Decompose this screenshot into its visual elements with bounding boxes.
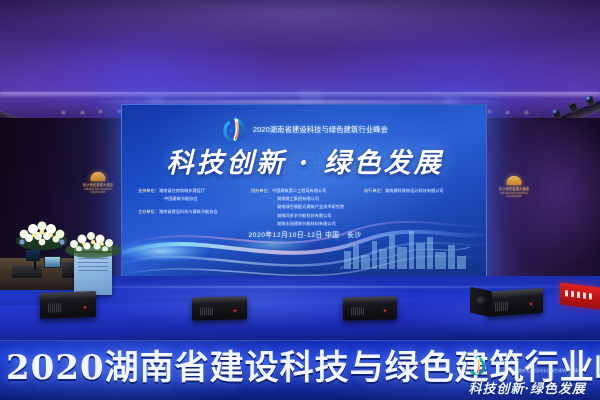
org-line: 湖南同多学节能科技有限公司 <box>251 212 363 220</box>
venue-logo-text: 长沙世纪金源大酒店 GRAND MILLENNIUM CHANGSHA <box>76 183 120 195</box>
venue-logo-left: 长沙世纪金源大酒店 GRAND MILLENNIUM CHANGSHA <box>76 172 120 198</box>
red-sign-text <box>565 290 595 300</box>
conference-stage-scene: 长沙世纪金源大酒店 GRAND MILLENNIUM CHANGSHA 长沙世纪… <box>0 0 600 400</box>
org-line: 湖南建工集团有限公司 <box>251 195 363 203</box>
org-block: 协办单位：中国建筑第二工程局有限公司湖南建工集团有限公司湖南绿色装配式建筑产业技… <box>251 187 363 228</box>
monitor-grille <box>48 303 61 313</box>
screen-date-location: 2020年12月10日-12日 中国 · 长沙 <box>122 229 487 239</box>
banner-subtitle: 科技创新·绿色发展 <box>468 378 586 397</box>
org-label: 支持单位： <box>138 188 159 193</box>
venue-logo-line3: CHANGSHA <box>492 195 536 199</box>
monitor-driver-cone <box>476 296 486 306</box>
org-label: 主办单位： <box>138 209 159 214</box>
monitor-top <box>192 296 247 302</box>
monitor-grille <box>495 301 508 311</box>
org-label: 协办单位： <box>251 188 272 193</box>
banner-event-logo-icon <box>466 356 488 376</box>
venue-logo-line3: CHANGSHA <box>76 191 120 195</box>
stage-monitor-speaker <box>487 288 543 317</box>
org-line: 湖南绿色装配式建筑产业技术研究院 <box>251 203 363 211</box>
org-line: 协办单位：中国建筑第二工程局有限公司 <box>251 187 363 195</box>
screen-event-title: 2020湖南省建设科技与绿色建筑行业峰会 <box>253 125 388 135</box>
event-logo-icon <box>222 117 248 143</box>
monitor-power-led <box>384 310 386 312</box>
led-stage-screen: 2020湖南省建设科技与绿色建筑行业峰会 科技创新 · 绿色发展 支持单位：湖南… <box>121 104 487 288</box>
screen-content: 2020湖南省建设科技与绿色建筑行业峰会 科技创新 · 绿色发展 支持单位：湖南… <box>122 105 486 287</box>
venue-logo-mark <box>507 176 522 185</box>
flower-arrangement-left <box>14 214 70 250</box>
org-line: 主办单位：湖南省建设科技与建筑节能协会 <box>138 208 250 216</box>
org-column-3: 执行单位：湖南建科装饰设计科技有限公司 <box>364 187 472 200</box>
stage-monitor-speaker <box>343 296 397 320</box>
org-line: 中国建筑节能协会 <box>138 195 250 203</box>
org-label: 执行单位： <box>364 188 385 193</box>
ceiling-downlight <box>60 110 67 115</box>
screen-slogan: 科技创新 · 绿色发展 <box>122 141 487 180</box>
stage-monitor-speaker <box>192 296 247 320</box>
monitor-power-led <box>234 310 236 312</box>
bottom-stage-banner: 2020湖南省建设科技与绿色建筑行业峰会 2020湖南省建设科技与绿色建筑行业峰… <box>0 340 600 400</box>
org-block: 主办单位：湖南省建设科技与建筑节能协会 <box>138 208 250 216</box>
venue-logo-mark <box>91 172 106 181</box>
org-line: 执行单位：湖南建科装饰设计科技有限公司 <box>364 187 472 195</box>
monitor-top <box>343 296 397 302</box>
venue-logo-right: 长沙世纪金源大酒店 GRAND MILLENNIUM CHANGSHA <box>492 176 536 202</box>
banner-small-title: 2020湖南省建设科技与绿色建筑行业峰会 <box>509 368 582 374</box>
screen-organizations: 支持单位：湖南省住房和城乡建设厅中国建筑节能协会主办单位：湖南省建设科技与建筑节… <box>138 187 472 233</box>
org-line: 湖南永强建筑节能材料有限公司 <box>251 220 363 228</box>
org-column-2: 协办单位：中国建筑第二工程局有限公司湖南建工集团有限公司湖南绿色装配式建筑产业技… <box>251 187 363 233</box>
laptop-screen <box>44 256 61 268</box>
org-line: 支持单位：湖南省住房和城乡建设厅 <box>138 187 250 195</box>
venue-logo-text: 长沙世纪金源大酒店 GRAND MILLENNIUM CHANGSHA <box>492 187 536 199</box>
screen-header-row: 2020湖南省建设科技与绿色建筑行业峰会 <box>122 117 487 143</box>
monitor-power-led <box>530 303 532 305</box>
ceiling-downlight <box>97 109 104 114</box>
org-block: 支持单位：湖南省住房和城乡建设厅中国建筑节能协会 <box>138 187 250 203</box>
monitor-power-led <box>84 306 86 308</box>
av-equipment-rack <box>12 266 42 278</box>
flower-arrangement-podium <box>62 228 124 258</box>
monitor-top <box>40 291 96 299</box>
ceiling-downlight <box>79 110 86 115</box>
monitor-grille <box>200 307 213 316</box>
org-block: 执行单位：湖南建科装饰设计科技有限公司 <box>364 187 472 195</box>
org-column-1: 支持单位：湖南省住房和城乡建设厅中国建筑节能协会主办单位：湖南省建设科技与建筑节… <box>138 187 250 222</box>
monitor-on-desk <box>26 250 40 261</box>
monitor-grille <box>351 307 364 316</box>
stage-monitor-speaker <box>40 291 96 319</box>
